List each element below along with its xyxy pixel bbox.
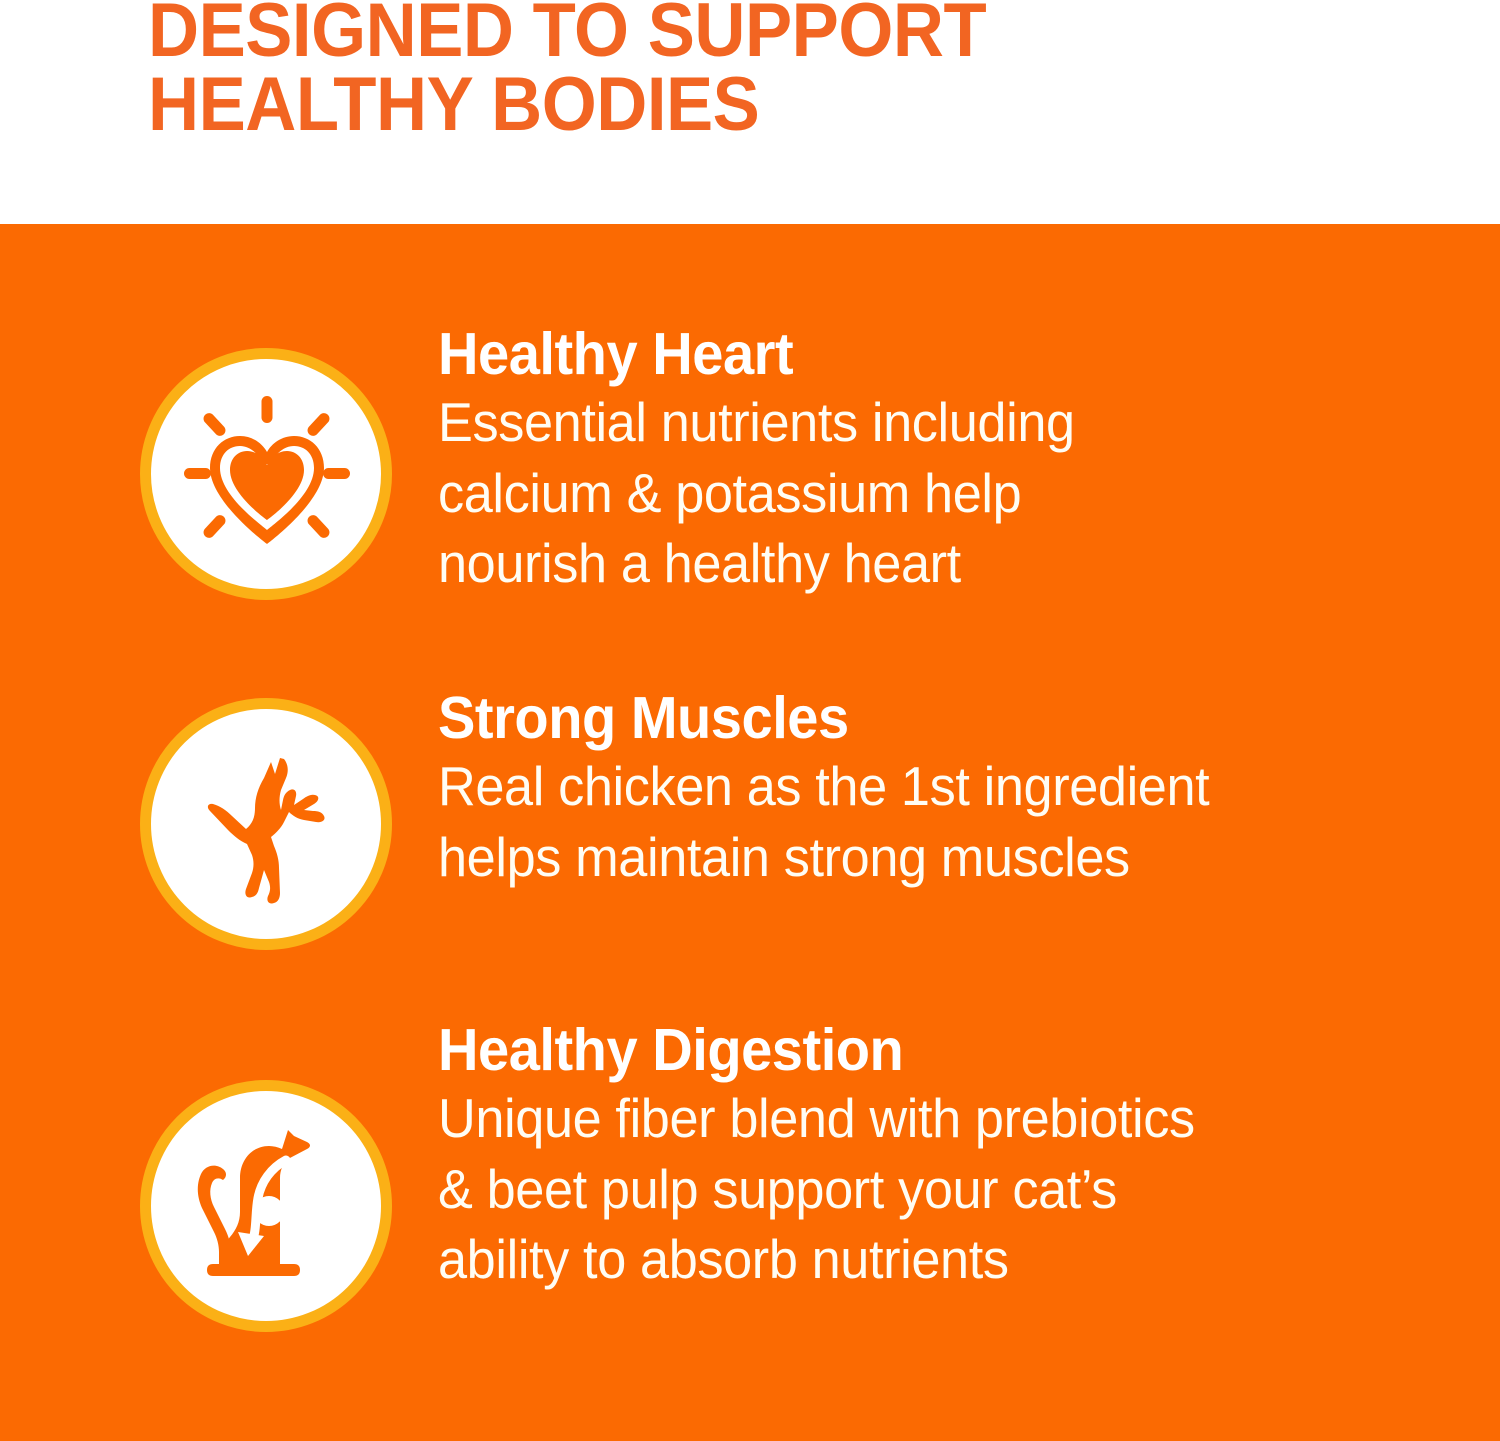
infographic-page: DESIGNED TO SUPPORT HEALTHY BODIES — [0, 0, 1500, 1441]
leaping-cat-icon — [176, 734, 356, 914]
benefit-description: Real chicken as the 1st ingredient helps… — [438, 751, 1209, 892]
header-band: DESIGNED TO SUPPORT HEALTHY BODIES — [0, 0, 1500, 224]
benefit-item-strong-muscles: Strong Muscles Real chicken as the 1st i… — [0, 688, 1500, 950]
benefit-text-strong-muscles: Strong Muscles Real chicken as the 1st i… — [438, 688, 1250, 892]
radiant-heart-icon — [176, 384, 356, 564]
benefit-title: Strong Muscles — [438, 688, 1209, 749]
benefit-title: Healthy Digestion — [438, 1020, 1195, 1081]
icon-badge-healthy-digestion — [140, 1080, 392, 1332]
benefit-description: Unique fiber blend with prebiotics & bee… — [438, 1083, 1195, 1294]
benefit-item-healthy-digestion: Healthy Digestion Unique fiber blend wit… — [0, 1020, 1500, 1332]
icon-badge-healthy-heart — [140, 348, 392, 600]
benefit-text-healthy-digestion: Healthy Digestion Unique fiber blend wit… — [438, 1020, 1235, 1295]
benefit-item-healthy-heart: Healthy Heart Essential nutrients includ… — [0, 324, 1500, 600]
benefit-description: Essential nutrients including calcium & … — [438, 387, 1075, 598]
sitting-cat-digestion-icon — [176, 1116, 356, 1296]
page-title: DESIGNED TO SUPPORT HEALTHY BODIES — [148, 0, 1311, 141]
benefit-title: Healthy Heart — [438, 324, 1075, 385]
benefit-text-healthy-heart: Healthy Heart Essential nutrients includ… — [438, 324, 1108, 599]
icon-badge-strong-muscles — [140, 698, 392, 950]
